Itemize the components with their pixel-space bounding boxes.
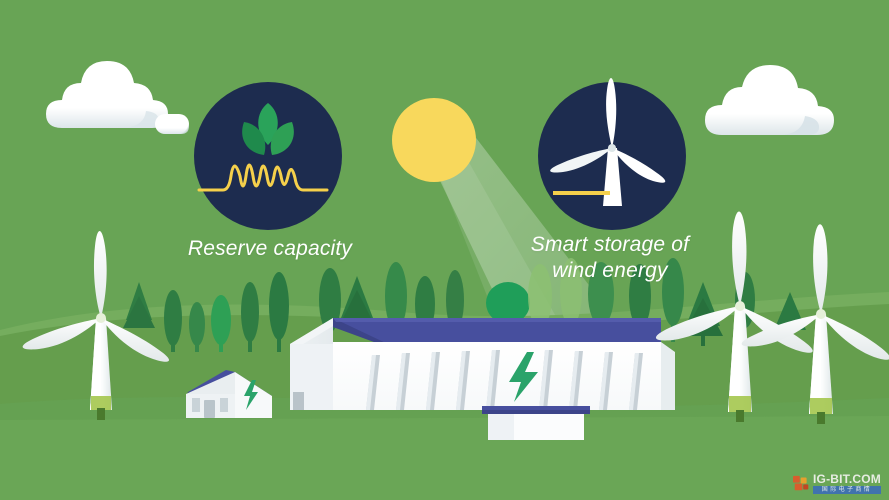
smart-storage-label-line2: wind energy	[490, 258, 730, 284]
watermark-subtitle: 国际电子商情	[813, 486, 881, 494]
cloud-small-icon-left	[155, 114, 189, 134]
smart-storage-label-line1: Smart storage of	[490, 232, 730, 258]
watermark-logo-icon	[793, 475, 810, 492]
smart-storage-label: Smart storage of wind energy	[490, 232, 730, 285]
building-side-door	[293, 392, 304, 410]
building-roof	[333, 318, 661, 345]
illustration-canvas: Reserve capacity Smart storage of wind e…	[0, 0, 889, 500]
reserve-capacity-badge[interactable]	[194, 82, 342, 230]
reserve-capacity-label: Reserve capacity	[150, 236, 390, 262]
watermark: IG-BIT.COM 国际电子商情	[793, 473, 881, 494]
sun-icon	[392, 98, 476, 182]
scene-svg	[0, 0, 889, 500]
building-annex	[482, 406, 590, 440]
watermark-title: IG-BIT.COM	[813, 473, 881, 485]
watermark-text: IG-BIT.COM 国际电子商情	[813, 473, 881, 494]
